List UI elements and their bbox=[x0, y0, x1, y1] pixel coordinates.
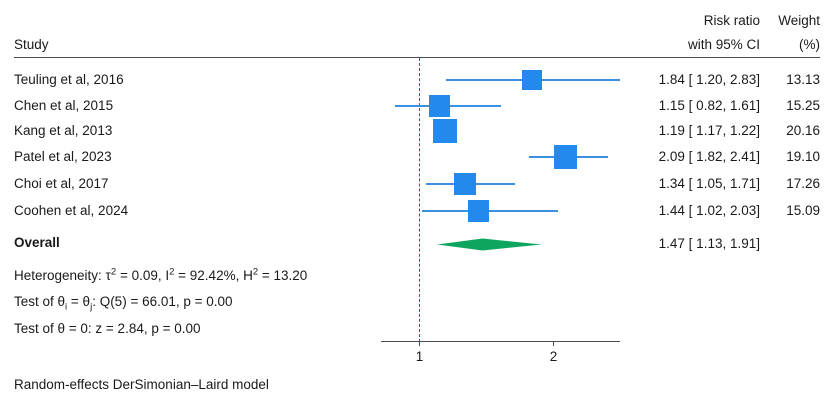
column-header-weight: Weight bbox=[0, 14, 820, 28]
overall-effect-value: 1.47 [ 1.13, 1.91] bbox=[0, 237, 760, 251]
x-axis-tick bbox=[419, 341, 420, 346]
column-header-weight-unit: (%) bbox=[0, 38, 820, 52]
x-axis-line bbox=[381, 341, 620, 342]
x-axis-tick-label: 1 bbox=[400, 350, 440, 364]
weight-value: 13.13 bbox=[0, 73, 820, 87]
weight-value: 17.26 bbox=[0, 177, 820, 191]
forest-plot: StudyRisk ratiowith 95% CIWeight(%)Teuli… bbox=[0, 0, 832, 401]
weight-value: 20.16 bbox=[0, 124, 820, 138]
header-rule bbox=[14, 57, 820, 58]
heterogeneity-stats: Heterogeneity: τ2 = 0.09, I2 = 92.42%, H… bbox=[14, 269, 307, 283]
x-axis-tick bbox=[553, 341, 554, 346]
weight-value: 15.09 bbox=[0, 204, 820, 218]
model-footnote: Random-effects DerSimonian–Laird model bbox=[14, 378, 269, 392]
test-of-homogeneity: Test of θi = θj: Q(5) = 66.01, p = 0.00 bbox=[14, 295, 233, 309]
weight-value: 15.25 bbox=[0, 99, 820, 113]
test-of-overall-effect: Test of θ = 0: z = 2.84, p = 0.00 bbox=[14, 322, 201, 336]
weight-value: 19.10 bbox=[0, 150, 820, 164]
x-axis-tick-label: 2 bbox=[534, 350, 574, 364]
